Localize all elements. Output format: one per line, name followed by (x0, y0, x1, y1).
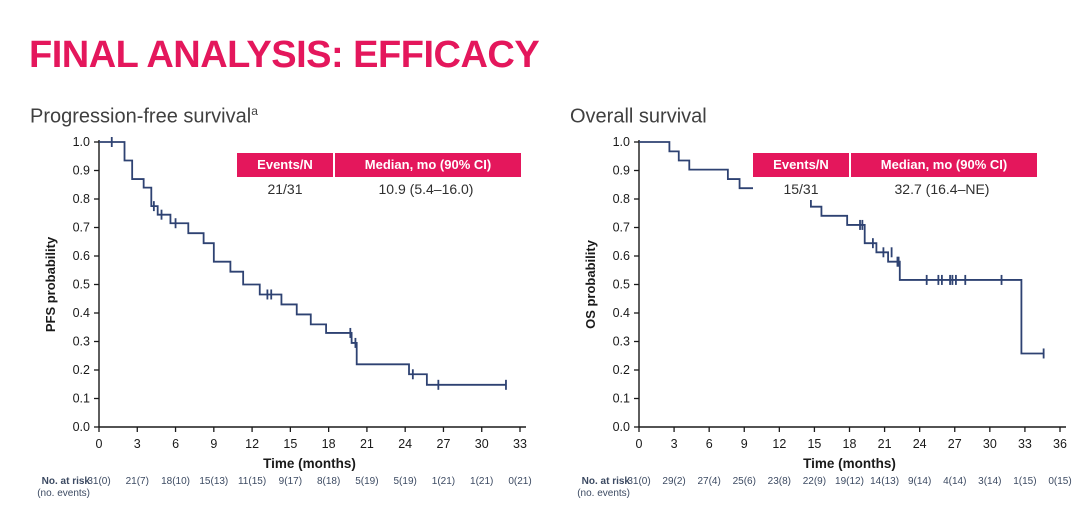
stats-value-row-os: 15/31 32.7 (16.4–NE) (753, 177, 1037, 200)
svg-text:24: 24 (913, 437, 927, 451)
svg-text:0.2: 0.2 (73, 363, 90, 377)
svg-text:3: 3 (134, 437, 141, 451)
panel-os: Overall survival 0.00.10.20.30.40.50.60.… (540, 96, 1080, 527)
svg-text:Time (months): Time (months) (263, 456, 356, 471)
svg-text:0.0: 0.0 (73, 420, 90, 434)
svg-text:3: 3 (671, 437, 678, 451)
risk-value: 0(15) (1048, 476, 1071, 487)
svg-text:0.0: 0.0 (613, 420, 630, 434)
svg-text:9: 9 (210, 437, 217, 451)
risk-value: 27(4) (697, 476, 720, 487)
risk-value: 31(0) (87, 476, 110, 487)
svg-text:15: 15 (807, 437, 821, 451)
risk-value: 31(0) (627, 476, 650, 487)
svg-text:24: 24 (398, 437, 412, 451)
svg-text:0.4: 0.4 (613, 306, 630, 320)
svg-text:0.2: 0.2 (613, 363, 630, 377)
risk-value: 0(21) (508, 476, 531, 487)
svg-text:0: 0 (636, 437, 643, 451)
svg-text:0.3: 0.3 (73, 335, 90, 349)
svg-text:36: 36 (1053, 437, 1067, 451)
svg-text:15: 15 (283, 437, 297, 451)
svg-text:30: 30 (983, 437, 997, 451)
risk-value: 15(13) (199, 476, 228, 487)
svg-text:0.8: 0.8 (613, 192, 630, 206)
panel-pfs: Progression-free survivala 0.00.10.20.30… (0, 96, 540, 527)
svg-text:27: 27 (437, 437, 451, 451)
svg-text:0.6: 0.6 (613, 249, 630, 263)
risk-value: 29(2) (662, 476, 685, 487)
risk-value: 8(18) (317, 476, 340, 487)
svg-text:1.0: 1.0 (73, 135, 90, 149)
svg-text:0.3: 0.3 (613, 335, 630, 349)
risk-value: 5(19) (355, 476, 378, 487)
svg-text:1.0: 1.0 (613, 135, 630, 149)
risk-value: 1(21) (470, 476, 493, 487)
stats-table-pfs: Events/N Median, mo (90% CI) 21/31 10.9 … (237, 153, 521, 200)
svg-text:18: 18 (843, 437, 857, 451)
svg-text:30: 30 (475, 437, 489, 451)
stats-value-median-pfs: 10.9 (5.4–16.0) (333, 177, 519, 200)
svg-text:0.6: 0.6 (73, 249, 90, 263)
risk-value: 1(15) (1013, 476, 1036, 487)
risk-value: 9(14) (908, 476, 931, 487)
svg-text:33: 33 (513, 437, 527, 451)
risk-table-pfs: No. at risk (no. events) 31(0)21(7)18(10… (0, 476, 540, 522)
risk-value: 9(17) (279, 476, 302, 487)
svg-text:9: 9 (741, 437, 748, 451)
panel-subtitle-pfs: Progression-free survivala (30, 104, 258, 129)
panel-subtitle-os-text: Overall survival (570, 106, 707, 128)
svg-text:27: 27 (948, 437, 962, 451)
stats-header-events-os: Events/N (753, 153, 851, 177)
svg-text:0.1: 0.1 (613, 392, 630, 406)
svg-text:0.4: 0.4 (73, 306, 90, 320)
risk-values-os: 31(0)29(2)27(4)25(6)23(8)22(9)19(12)14(1… (540, 476, 1080, 490)
svg-text:6: 6 (172, 437, 179, 451)
svg-text:0.7: 0.7 (613, 221, 630, 235)
svg-text:21: 21 (878, 437, 892, 451)
svg-text:0.9: 0.9 (73, 164, 90, 178)
risk-value: 5(19) (393, 476, 416, 487)
svg-text:21: 21 (360, 437, 374, 451)
svg-text:6: 6 (706, 437, 713, 451)
stats-value-median-os: 32.7 (16.4–NE) (849, 177, 1035, 200)
risk-values-pfs: 31(0)21(7)18(10)15(13)11(15)9(17)8(18)5(… (0, 476, 540, 490)
page-title: FINAL ANALYSIS: EFFICACY (29, 34, 539, 77)
risk-table-os: No. at risk (no. events) 31(0)29(2)27(4)… (540, 476, 1080, 522)
panel-subtitle-pfs-text: Progression-free survival (30, 106, 251, 128)
risk-value: 11(15) (238, 476, 266, 487)
svg-text:0.5: 0.5 (73, 278, 90, 292)
risk-value: 14(13) (870, 476, 899, 487)
risk-value: 18(10) (161, 476, 190, 487)
risk-value: 1(21) (432, 476, 455, 487)
risk-value: 4(14) (943, 476, 966, 487)
stats-header-median-pfs: Median, mo (90% CI) (335, 153, 521, 177)
stats-header-row-pfs: Events/N Median, mo (90% CI) (237, 153, 521, 177)
stats-value-events-os: 15/31 (753, 177, 849, 200)
svg-text:Time (months): Time (months) (803, 456, 896, 471)
risk-value: 19(12) (835, 476, 864, 487)
stats-header-events-pfs: Events/N (237, 153, 335, 177)
risk-value: 22(9) (803, 476, 826, 487)
svg-text:0.9: 0.9 (613, 164, 630, 178)
svg-text:0.5: 0.5 (613, 278, 630, 292)
stats-value-row-pfs: 21/31 10.9 (5.4–16.0) (237, 177, 521, 200)
svg-text:OS probability: OS probability (583, 239, 598, 329)
svg-text:18: 18 (322, 437, 336, 451)
svg-text:12: 12 (772, 437, 786, 451)
stats-value-events-pfs: 21/31 (237, 177, 333, 200)
stats-header-row-os: Events/N Median, mo (90% CI) (753, 153, 1037, 177)
risk-value: 25(6) (733, 476, 756, 487)
svg-text:PFS probability: PFS probability (43, 236, 58, 332)
svg-text:33: 33 (1018, 437, 1032, 451)
slide-root: FINAL ANALYSIS: EFFICACY Progression-fre… (0, 0, 1080, 527)
panel-subtitle-os: Overall survival (570, 104, 707, 129)
risk-value: 23(8) (768, 476, 791, 487)
panel-subtitle-pfs-footnote: a (251, 104, 258, 118)
risk-value: 3(14) (978, 476, 1001, 487)
svg-text:0.7: 0.7 (73, 221, 90, 235)
svg-text:0: 0 (96, 437, 103, 451)
svg-text:12: 12 (245, 437, 259, 451)
svg-text:0.8: 0.8 (73, 192, 90, 206)
risk-value: 21(7) (126, 476, 149, 487)
svg-text:0.1: 0.1 (73, 392, 90, 406)
stats-header-median-os: Median, mo (90% CI) (851, 153, 1037, 177)
stats-table-os: Events/N Median, mo (90% CI) 15/31 32.7 … (753, 153, 1037, 200)
